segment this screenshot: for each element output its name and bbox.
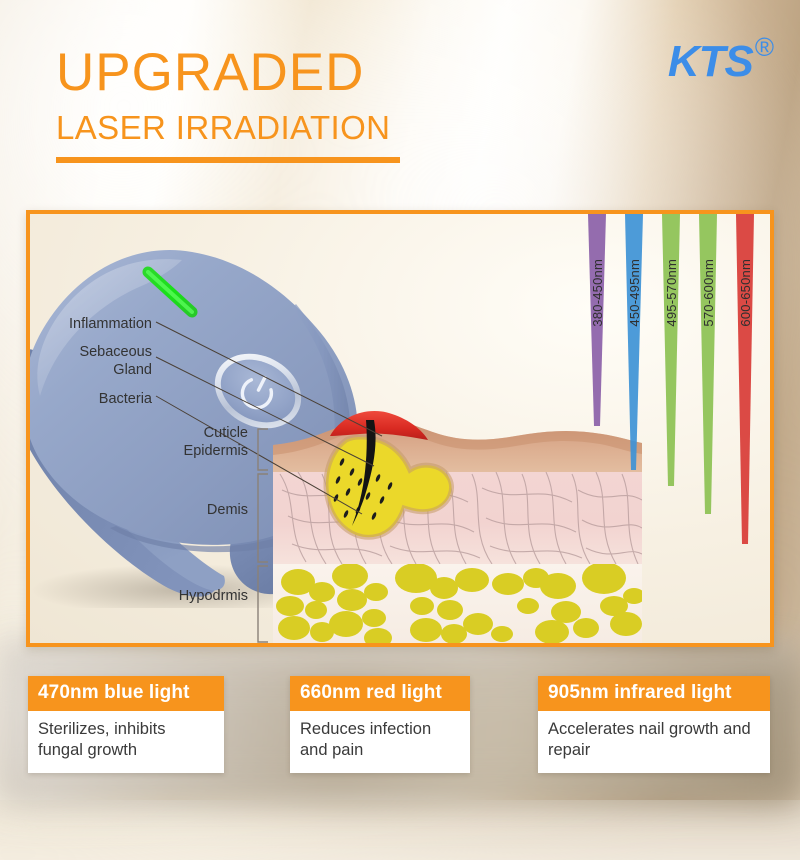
brand-logo: KTS ®: [668, 40, 774, 84]
beam-495-570nm: [662, 214, 680, 486]
headline-underline: [56, 157, 400, 163]
feature-card-title: 905nm infrared light: [538, 676, 770, 711]
feature-card-body: Sterilizes, inhibits fungal growth: [28, 711, 224, 773]
callout-label-sebaceous: Sebaceous: [30, 344, 152, 360]
wavelength-label-450-495nm: 450-495nm: [627, 259, 642, 327]
feature-card-red-light: 660nm red light Reduces infection and pa…: [290, 676, 470, 773]
skin-cross-section: [273, 411, 645, 643]
callout-label-gland: Gland: [30, 362, 152, 378]
product-illustration-panel: 380-450nm 450-495nm 495-570nm 570-600nm …: [26, 210, 774, 647]
layer-label-dermis: Demis: [30, 502, 248, 519]
feature-card-body: Reduces infection and pain: [290, 711, 470, 773]
wavelength-label-380-450nm: 380-450nm: [590, 259, 605, 327]
beam-450-495nm: [625, 214, 643, 470]
page-subtitle: LASER IRRADIATION: [56, 110, 400, 146]
brand-name: KTS: [668, 40, 753, 84]
registered-trademark-icon: ®: [755, 34, 774, 60]
wavelength-label-600-650nm: 600-650nm: [738, 259, 753, 327]
headline-block: UPGRADED LASER IRRADIATION: [56, 46, 400, 163]
bracket-epidermis: [258, 429, 268, 470]
layer-brackets: [258, 429, 268, 642]
layer-label-hypodermis: Hypodrmis: [30, 588, 248, 605]
callout-label-inflammation: Inflammation: [30, 316, 152, 333]
layer-label-epidermis: Epidermis: [30, 443, 248, 459]
layer-label-cuticle: Cuticle: [30, 425, 248, 441]
page-title: UPGRADED: [56, 46, 400, 100]
bracket-dermis: [258, 474, 268, 562]
bracket-hypodermis: [258, 566, 268, 642]
feature-card-body: Accelerates nail growth and repair: [538, 711, 770, 773]
wavelength-label-570-600nm: 570-600nm: [701, 259, 716, 327]
feature-card-blue-light: 470nm blue light Sterilizes, inhibits fu…: [28, 676, 224, 773]
wavelength-label-495-570nm: 495-570nm: [664, 259, 679, 327]
callout-label-bacteria: Bacteria: [30, 391, 152, 408]
feature-card-title: 470nm blue light: [28, 676, 224, 711]
feature-card-title: 660nm red light: [290, 676, 470, 711]
feature-card-infrared-light: 905nm infrared light Accelerates nail gr…: [538, 676, 770, 773]
